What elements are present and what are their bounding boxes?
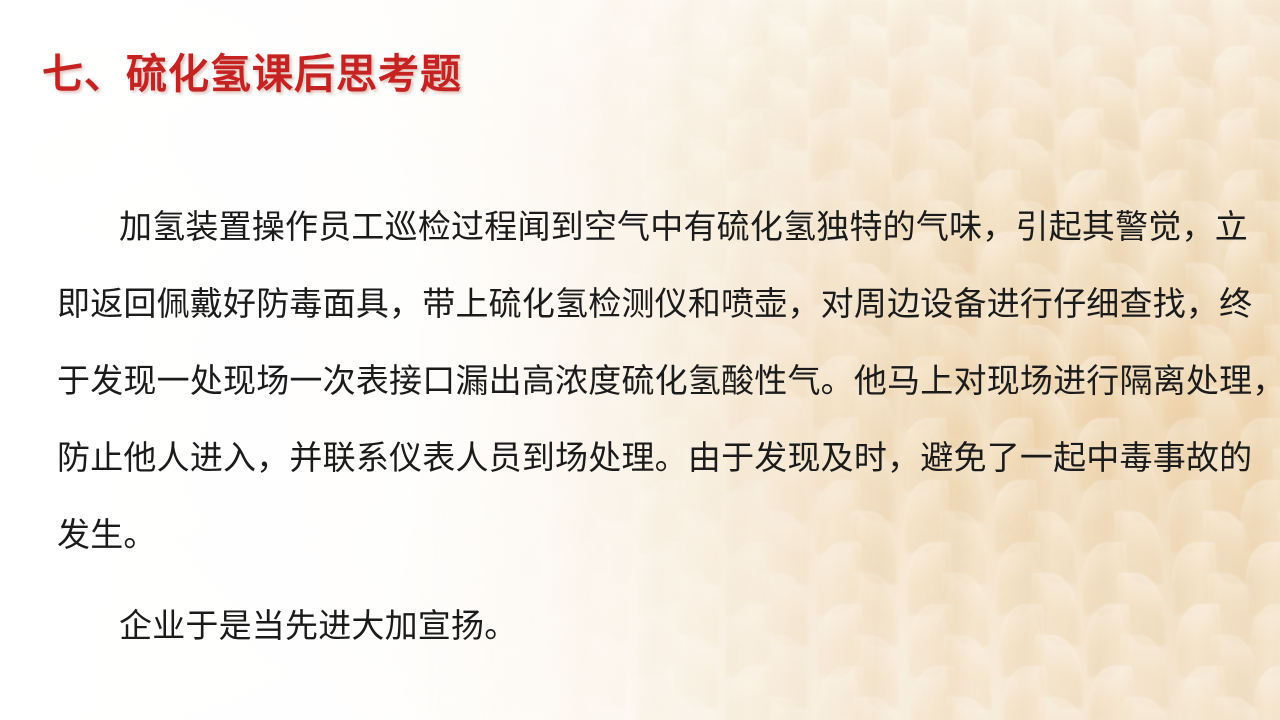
presentation-slide: 七、硫化氢课后思考题 加氢装置操作员工巡检过程闻到空气中有硫化氢独特的气味，引起… xyxy=(0,0,1280,720)
body-text-line: 企业于是当先进大加宣扬。 xyxy=(57,587,1219,664)
body-text-line: 加氢装置操作员工巡检过程闻到空气中有硫化氢独特的气味，引起其警觉，立 xyxy=(57,188,1219,265)
body-text-line: 发生。 xyxy=(57,496,1219,573)
page-title: 七、硫化氢课后思考题 xyxy=(42,52,462,97)
paragraph-gap xyxy=(57,573,1219,587)
body-text-line: 于发现一处现场一次表接口漏出高浓度硫化氢酸性气。他马上对现场进行隔离处理， xyxy=(57,342,1219,419)
body-text-line: 即返回佩戴好防毒面具，带上硫化氢检测仪和喷壶，对周边设备进行仔细查找，终 xyxy=(57,265,1219,342)
body-text-block: 加氢装置操作员工巡检过程闻到空气中有硫化氢独特的气味，引起其警觉，立即返回佩戴好… xyxy=(57,188,1219,664)
body-text-line: 防止他人进入，并联系仪表人员到场处理。由于发现及时，避免了一起中毒事故的 xyxy=(57,419,1219,496)
